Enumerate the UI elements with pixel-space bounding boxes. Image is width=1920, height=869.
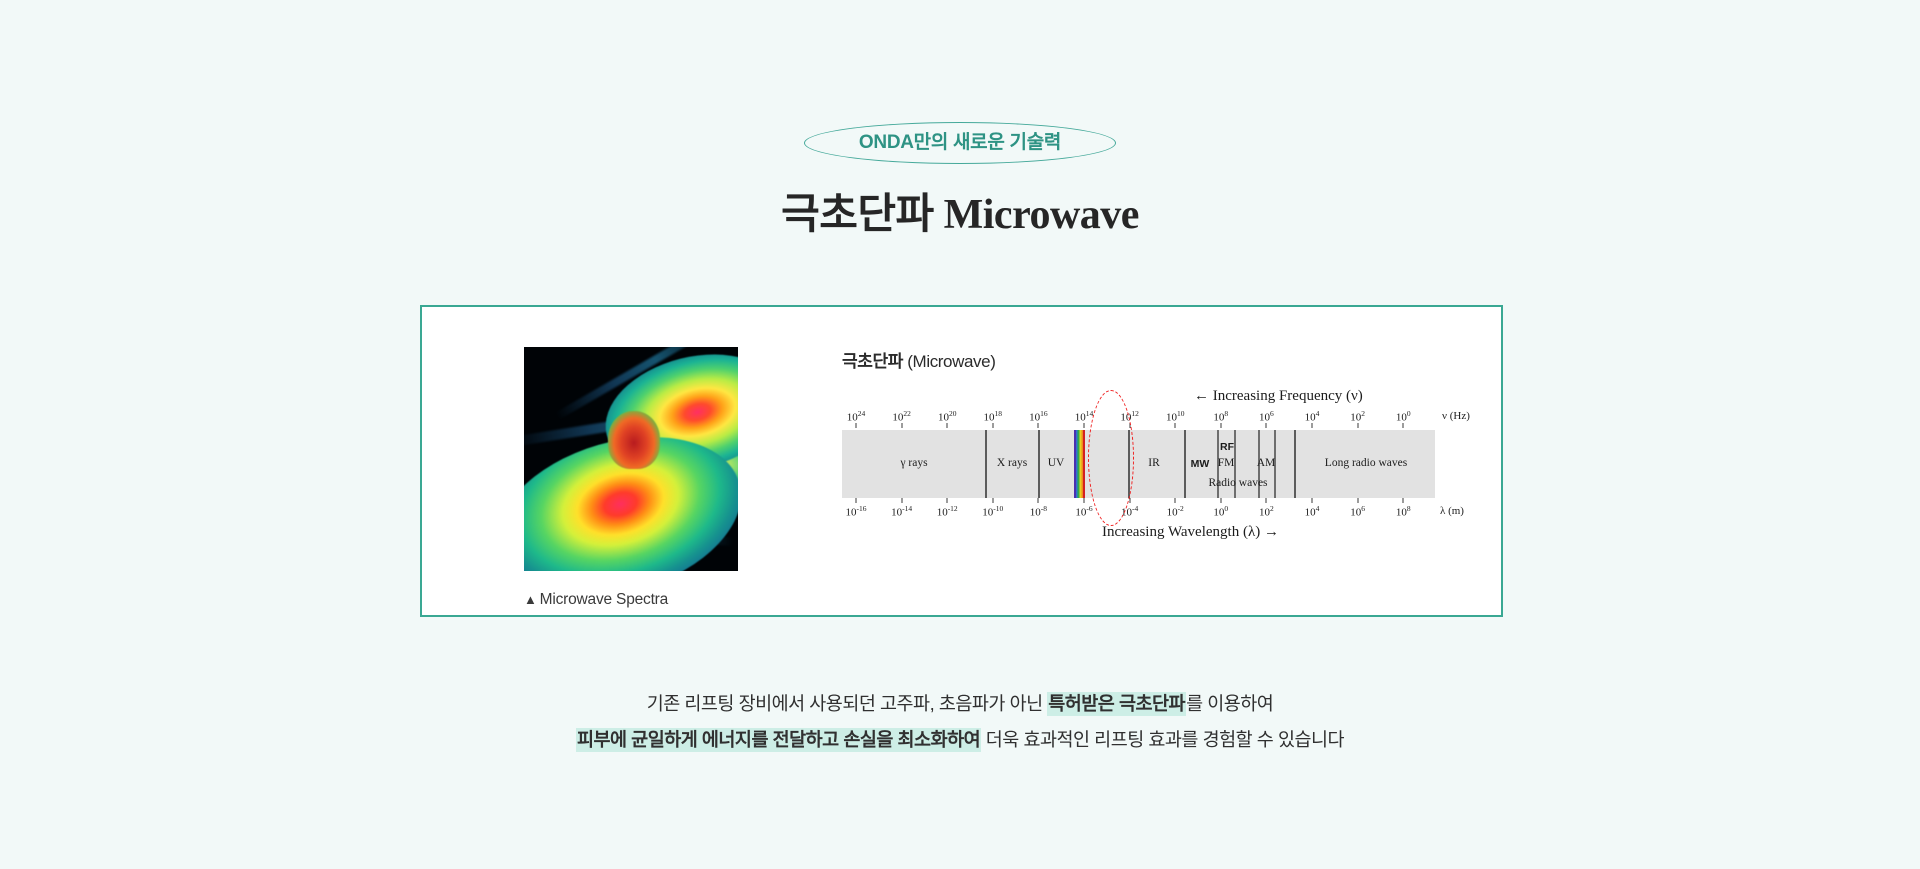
band-label-mw: MW xyxy=(1191,459,1210,470)
wavelength-tick-mark xyxy=(1312,498,1313,503)
spectrum-column: 극초단파 (Microwave) ← Increasing Frequency … xyxy=(738,347,1472,615)
frequency-unit-label: ν (Hz) xyxy=(1442,410,1470,422)
figure-caption-text: Microwave Spectra xyxy=(540,591,668,608)
frequency-tick-mark xyxy=(1403,423,1404,428)
page-title: 극초단파 Microwave xyxy=(0,190,1920,240)
desc-l1-b: 를 이용하여 xyxy=(1186,693,1273,714)
band-label-gamma: γ rays xyxy=(900,458,927,470)
microwave-card: ▲Microwave Spectra 극초단파 (Microwave) ← In… xyxy=(420,305,1503,617)
frequency-tick-label: 102 xyxy=(1350,410,1365,424)
band-divider xyxy=(1184,430,1186,498)
frequency-tick-mark xyxy=(1220,423,1221,428)
frequency-tick-mark xyxy=(1266,423,1267,428)
wavelength-tick-label: 106 xyxy=(1350,505,1365,519)
frequency-tick-label: 100 xyxy=(1396,410,1411,424)
wavelength-tick-mark xyxy=(1175,498,1176,503)
frequency-tick-label: 1010 xyxy=(1166,410,1185,424)
band-label-uv: UV xyxy=(1048,458,1065,470)
band-label-long-radio: Long radio waves xyxy=(1325,458,1407,470)
spectrum-heading-bold: 극초단파 xyxy=(842,352,903,371)
desc-l2-highlight: 피부에 균일하게 에너지를 전달하고 손실을 최소화하여 xyxy=(576,728,981,752)
wavelength-arrow-label: Increasing Wavelength (λ) → xyxy=(1102,524,1279,541)
wavelength-tick-mark xyxy=(1266,498,1267,503)
band-divider xyxy=(1038,430,1040,498)
eyebrow-badge: ONDA만의 새로운 기술력 xyxy=(804,122,1116,164)
band-label-ir: IR xyxy=(1148,458,1160,470)
wavelength-tick-mark xyxy=(1084,498,1085,503)
wavelength-tick-label: 10-10 xyxy=(982,505,1003,519)
frequency-tick-mark xyxy=(1312,423,1313,428)
band-label-radio: Radio waves xyxy=(1208,478,1267,490)
band-divider xyxy=(1294,430,1296,498)
wavelength-tick-mark xyxy=(1220,498,1221,503)
frequency-arrow-label: ← Increasing Frequency (ν) xyxy=(1194,388,1363,405)
badge-container: ONDA만의 새로운 기술력 xyxy=(0,122,1920,164)
wavelength-unit-label: λ (m) xyxy=(1440,505,1464,517)
frequency-tick-label: 104 xyxy=(1305,410,1320,424)
visible-light-strip xyxy=(1074,430,1085,498)
triangle-marker-icon: ▲ xyxy=(524,592,537,607)
figure-caption: ▲Microwave Spectra xyxy=(524,591,738,609)
band-label-fm: FM xyxy=(1218,458,1235,470)
wavelength-tick-label: 104 xyxy=(1305,505,1320,519)
frequency-tick-mark xyxy=(1084,423,1085,428)
wavelength-tick-label: 100 xyxy=(1213,505,1228,519)
wavelength-tick-mark xyxy=(947,498,948,503)
frequency-tick-mark xyxy=(1175,423,1176,428)
frequency-tick-label: 1024 xyxy=(847,410,866,424)
frequency-tick-label: 108 xyxy=(1213,410,1228,424)
frequency-tick-label: 1020 xyxy=(938,410,957,424)
wavelength-tick-mark xyxy=(1403,498,1404,503)
description-line-2: 피부에 균일하게 에너지를 전달하고 손실을 최소화하여 더욱 효과적인 리프팅… xyxy=(0,722,1920,758)
wavelength-tick-mark xyxy=(856,498,857,503)
wavelength-tick-label: 10-12 xyxy=(937,505,958,519)
frequency-tick-mark xyxy=(901,423,902,428)
microwave-field-image xyxy=(524,347,738,571)
band-label-rf: RF xyxy=(1220,442,1234,453)
wavelength-tick-label: 108 xyxy=(1396,505,1411,519)
frequency-tick-mark xyxy=(1357,423,1358,428)
desc-l1-a: 기존 리프팅 장비에서 사용되던 고주파, 초음파가 아닌 xyxy=(647,693,1048,714)
spectrum-heading-normal: (Microwave) xyxy=(903,352,996,371)
frequency-tick-mark xyxy=(992,423,993,428)
band-divider xyxy=(985,430,987,498)
frequency-tick-label: 1016 xyxy=(1029,410,1048,424)
wavelength-tick-label: 10-16 xyxy=(846,505,867,519)
frequency-tick-label: 1022 xyxy=(892,410,911,424)
spectrum-bar: γ rays X rays UV IR MW RF FM AM Radio wa… xyxy=(842,430,1435,498)
figure-column: ▲Microwave Spectra xyxy=(524,347,738,615)
wavelength-axis: 10-1610-1410-1210-1010-810-610-410-21001… xyxy=(842,498,1472,520)
wavelength-tick-mark xyxy=(901,498,902,503)
band-label-xrays: X rays xyxy=(997,458,1027,470)
frequency-axis: 1024102210201018101610141012101010810610… xyxy=(842,410,1472,432)
wavelength-tick-mark xyxy=(992,498,993,503)
frequency-tick-mark xyxy=(856,423,857,428)
frequency-tick-mark xyxy=(947,423,948,428)
mw-highlight-ellipse xyxy=(1088,390,1134,526)
spectrum-heading: 극초단파 (Microwave) xyxy=(842,347,1472,372)
electromagnetic-spectrum-chart: ← Increasing Frequency (ν) Increasing Wa… xyxy=(842,394,1472,544)
wavelength-tick-label: 10-6 xyxy=(1075,505,1092,519)
wavelength-tick-mark xyxy=(1357,498,1358,503)
frequency-tick-mark xyxy=(1038,423,1039,428)
wavelength-tick-label: 10-14 xyxy=(891,505,912,519)
wavelength-tick-label: 102 xyxy=(1259,505,1274,519)
wavelength-tick-label: 10-8 xyxy=(1030,505,1047,519)
description-line-1: 기존 리프팅 장비에서 사용되던 고주파, 초음파가 아닌 특허받은 극초단파를… xyxy=(0,686,1920,722)
wavelength-tick-label: 10-2 xyxy=(1167,505,1184,519)
wavelength-tick-mark xyxy=(1038,498,1039,503)
description-block: 기존 리프팅 장비에서 사용되던 고주파, 초음파가 아닌 특허받은 극초단파를… xyxy=(0,686,1920,758)
field-core xyxy=(608,411,660,469)
desc-l1-highlight: 특허받은 극초단파 xyxy=(1047,692,1186,716)
frequency-tick-label: 106 xyxy=(1259,410,1274,424)
band-label-am: AM xyxy=(1257,458,1276,470)
frequency-tick-label: 1018 xyxy=(984,410,1003,424)
desc-l2-b: 더욱 효과적인 리프팅 효과를 경험할 수 있습니다 xyxy=(981,729,1344,750)
